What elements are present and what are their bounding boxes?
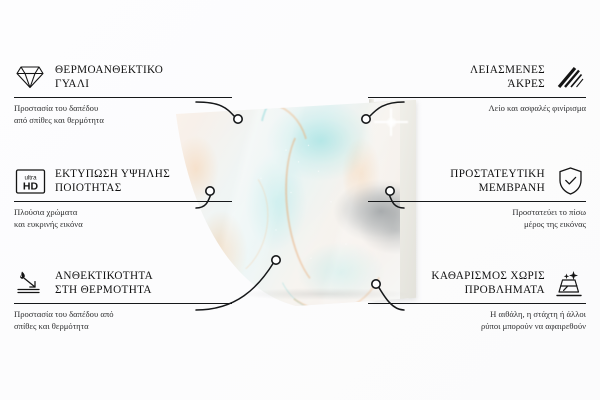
feature-title: ΠΡΟΣΤΑΤΕΥΤΙΚΗ ΜΕΜΒΡΑΝΗ	[450, 167, 545, 196]
feature-protective-membrane[interactable]: ΠΡΟΣΤΑΤΕΥΤΙΚΗ ΜΕΜΒΡΑΝΗ Προστατεύει το πί…	[368, 164, 586, 230]
feature-divider	[368, 303, 586, 304]
diamond-icon	[14, 61, 46, 93]
feature-header: ΑΝΘΕΚΤΙΚΟΤΗΤΑ ΣΤΗ ΘΕΡΜΟΤΗΤΑ	[14, 266, 232, 300]
feature-divider	[14, 97, 232, 98]
feature-subtitle: Προστασία του δαπέδου από σπίθες και θερ…	[14, 102, 232, 126]
feature-title: ΚΑΘΑΡΙΣΜΟΣ ΧΩΡΙΣ ΠΡΟΒΛΗΜΑΤΑ	[431, 269, 545, 298]
infographic-stage: ΘΕΡΜΟΑΝΘΕΚΤΙΚΟ ΓΥΑΛΙ Προστασία του δαπέδ…	[0, 0, 600, 400]
shield-check-icon	[554, 165, 586, 197]
feature-title: ΘΕΡΜΟΑΝΘΕΚΤΙΚΟ ΓΥΑΛΙ	[55, 63, 163, 92]
feature-title: ΑΝΘΕΚΤΙΚΟΤΗΤΑ ΣΤΗ ΘΕΡΜΟΤΗΤΑ	[55, 269, 153, 298]
feature-header: ΛΕΙΑΣΜΕΝΕΣ ΆΚΡΕΣ	[368, 60, 586, 94]
feature-divider	[14, 201, 232, 202]
feature-heat-durability[interactable]: ΑΝΘΕΚΤΙΚΟΤΗΤΑ ΣΤΗ ΘΕΡΜΟΤΗΤΑ Προστασία το…	[14, 266, 232, 332]
feature-heat-resistant-glass[interactable]: ΘΕΡΜΟΑΝΘΕΚΤΙΚΟ ΓΥΑΛΙ Προστασία του δαπέδ…	[14, 60, 232, 126]
feature-subtitle: Προστατεύει το πίσω μέρος της εικόνας	[368, 206, 586, 230]
feature-divider	[368, 97, 586, 98]
feature-subtitle: Η αιθάλη, η στάχτη ή άλλοι ρύποι μπορούν…	[368, 308, 586, 332]
feature-title: ΛΕΙΑΣΜΕΝΕΣ ΆΚΡΕΣ	[470, 63, 545, 92]
feature-header: ultra HD ΕΚΤΥΠΩΣΗ ΥΨΗΛΗΣ ΠΟΙΟΤΗΤΑΣ	[14, 164, 232, 198]
feature-divider	[14, 303, 232, 304]
feature-header: ΠΡΟΣΤΑΤΕΥΤΙΚΗ ΜΕΜΒΡΑΝΗ	[368, 164, 586, 198]
feature-high-quality-print[interactable]: ultra HD ΕΚΤΥΠΩΣΗ ΥΨΗΛΗΣ ΠΟΙΟΤΗΤΑΣ Πλούσ…	[14, 164, 232, 230]
sponge-sparkle-icon	[554, 267, 586, 299]
feature-divider	[368, 201, 586, 202]
feature-easy-cleaning[interactable]: ΚΑΘΑΡΙΣΜΟΣ ΧΩΡΙΣ ΠΡΟΒΛΗΜΑΤΑ Η αιθάλη, η …	[368, 266, 586, 332]
ultra-hd-icon: ultra HD	[14, 165, 46, 197]
feature-polished-edges[interactable]: ΛΕΙΑΣΜΕΝΕΣ ΆΚΡΕΣ Λείο και ασφαλές φινίρι…	[368, 60, 586, 114]
flame-surface-icon	[14, 267, 46, 299]
feature-subtitle: Προστασία του δαπέδου από σπίθες και θερ…	[14, 308, 232, 332]
feature-header: ΚΑΘΑΡΙΣΜΟΣ ΧΩΡΙΣ ΠΡΟΒΛΗΜΑΤΑ	[368, 266, 586, 300]
diagonal-stripes-icon	[554, 61, 586, 93]
feature-subtitle: Πλούσια χρώματα και ευκρινής εικόνα	[14, 206, 232, 230]
feature-subtitle: Λείο και ασφαλές φινίρισμα	[368, 102, 586, 114]
feature-title: ΕΚΤΥΠΩΣΗ ΥΨΗΛΗΣ ΠΟΙΟΤΗΤΑΣ	[55, 167, 170, 196]
feature-header: ΘΕΡΜΟΑΝΘΕΚΤΙΚΟ ΓΥΑΛΙ	[14, 60, 232, 94]
ultra-hd-main-label: HD	[22, 180, 38, 192]
